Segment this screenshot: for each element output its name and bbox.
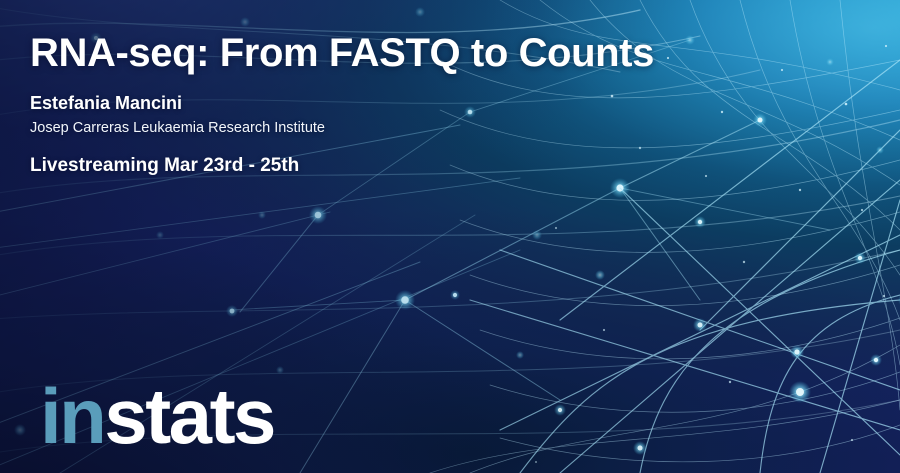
slide-content: RNA-seq: From FASTQ to Counts Estefania … — [0, 0, 900, 473]
instats-logo: in stats — [40, 377, 274, 455]
logo-text-stats: stats — [104, 377, 274, 455]
logo-text-in: in — [40, 377, 104, 455]
presenter-name: Estefania Mancini — [30, 93, 182, 114]
presenter-affiliation: Josep Carreras Leukaemia Research Instit… — [30, 120, 325, 136]
slide-title: RNA-seq: From FASTQ to Counts — [30, 31, 654, 76]
schedule-text: Livestreaming Mar 23rd - 25th — [30, 155, 299, 177]
presentation-slide: RNA-seq: From FASTQ to Counts Estefania … — [0, 0, 900, 473]
